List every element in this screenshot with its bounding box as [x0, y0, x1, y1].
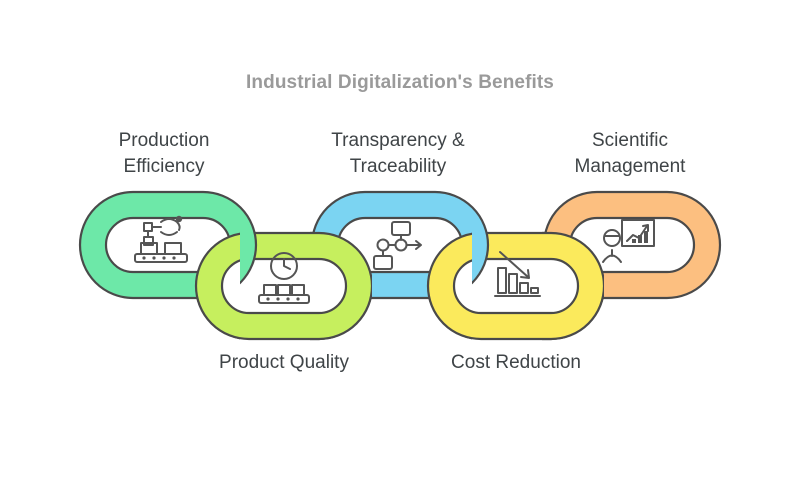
link-label-product-quality: Product Quality: [184, 350, 384, 376]
link-label-production-efficiency: Production Efficiency: [64, 128, 264, 179]
link-label-transparency-traceability: Transparency & Traceability: [298, 128, 498, 179]
link-label-cost-reduction: Cost Reduction: [416, 350, 616, 376]
chain-diagram: [0, 0, 800, 500]
link-label-scientific-management: Scientific Management: [530, 128, 730, 179]
